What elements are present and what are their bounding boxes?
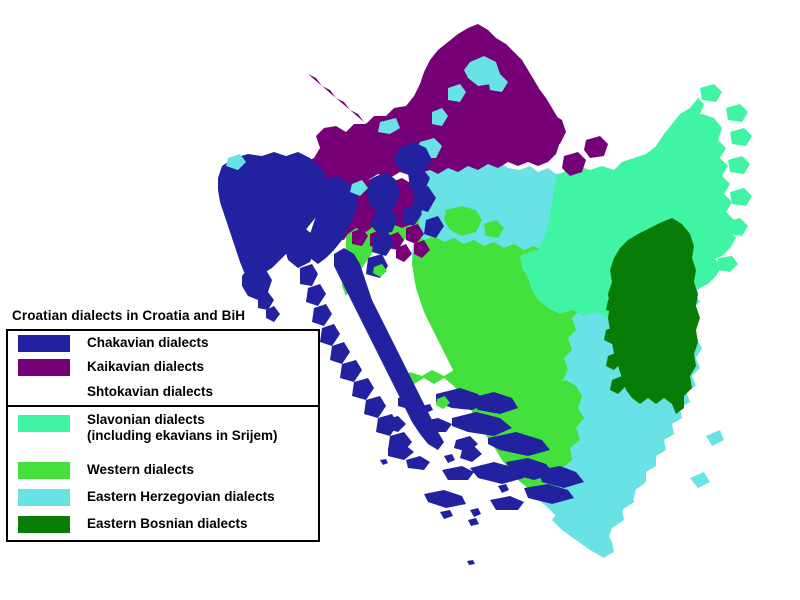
legend-item-western[interactable]: Western dialects: [8, 458, 318, 482]
legend-label-shtokavian: Shtokavian dialects: [87, 384, 213, 400]
legend-swatch-eastern-herzegovian: [18, 489, 70, 506]
legend-item-chakavian[interactable]: Chakavian dialects: [8, 331, 318, 355]
legend-group-header-shtokavian: Shtokavian dialects: [8, 379, 318, 405]
legend-swatch-kaikavian: [18, 359, 70, 376]
legend-label-western: Western dialects: [87, 462, 194, 478]
legend-label-eastern-herzegovian: Eastern Herzegovian dialects: [87, 489, 275, 505]
legend-swatch-eastern-bosnian: [18, 516, 70, 533]
legend-label-kaikavian: Kaikavian dialects: [87, 359, 204, 375]
legend-swatch-slavonian: [18, 415, 70, 432]
legend-title: Croatian dialects in Croatia and BiH: [6, 308, 324, 329]
legend-label-slavonian-line2: (including ekavians in Srijem): [87, 428, 278, 443]
legend-swatch-chakavian: [18, 335, 70, 352]
map-page: Croatian dialects in Croatia and BiH Cha…: [0, 0, 800, 600]
legend-label-eastern-bosnian: Eastern Bosnian dialects: [87, 516, 248, 532]
legend-item-eastern-bosnian[interactable]: Eastern Bosnian dialects: [8, 512, 318, 536]
legend: Croatian dialects in Croatia and BiH Cha…: [6, 308, 324, 542]
legend-swatch-western: [18, 462, 70, 479]
legend-item-kaikavian[interactable]: Kaikavian dialects: [8, 355, 318, 379]
legend-label-slavonian-line1: Slavonian dialects: [87, 412, 205, 427]
legend-box-inner: Slavonian dialects (including ekavians i…: [6, 405, 320, 542]
legend-label-slavonian: Slavonian dialects (including ekavians i…: [87, 412, 278, 444]
legend-item-slavonian[interactable]: Slavonian dialects (including ekavians i…: [8, 411, 318, 455]
legend-label-chakavian: Chakavian dialects: [87, 335, 209, 351]
legend-item-eastern-herzegovian[interactable]: Eastern Herzegovian dialects: [8, 485, 318, 509]
legend-box-outer: Chakavian dialects Kaikavian dialects Sh…: [6, 329, 320, 542]
